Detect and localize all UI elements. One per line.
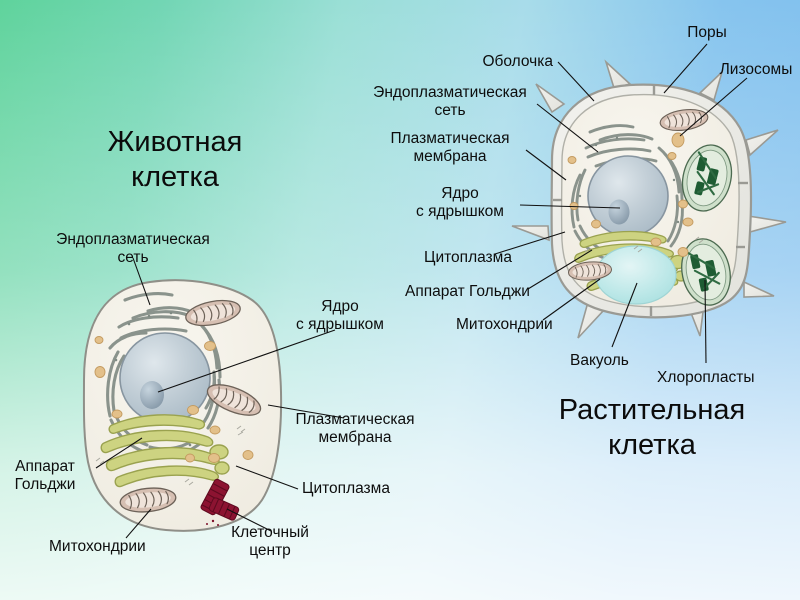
plant-label-er: Эндоплазматическая сеть — [345, 84, 555, 119]
plant-label-vacuole: Вакуоль — [570, 352, 629, 370]
animal-label-cytoplasm: Цитоплазма — [302, 480, 390, 498]
plant-label-chloroplasts: Хлоропласты — [657, 369, 754, 387]
animal-label-mitochondria: Митохондрии — [49, 538, 146, 556]
plant-label-cell-wall: Оболочка — [482, 53, 553, 71]
animal-nucleolus — [140, 381, 164, 409]
plant-nucleolus — [609, 200, 630, 225]
animal-cell-drawing — [84, 280, 281, 531]
animal-label-cell-center: Клеточный центр — [205, 524, 335, 559]
animal-cell-title: Животная клетка — [25, 125, 325, 195]
animal-label-nucleus: Ядро с ядрышком — [260, 298, 420, 333]
plant-label-nucleus: Ядро с ядрышком — [380, 185, 540, 220]
plant-label-plasma-membrane: Плазматическая мембрана — [360, 130, 540, 165]
plant-cell-title: Растительная клетка — [487, 393, 800, 463]
plant-label-pores: Поры — [662, 24, 752, 42]
plant-label-lysosomes: Лизосомы — [701, 61, 800, 79]
plant-label-golgi: Аппарат Гольджи — [405, 283, 530, 301]
animal-label-golgi: Аппарат Гольджи — [0, 458, 100, 493]
animal-label-er: Эндоплазматическая сеть — [33, 231, 233, 266]
animal-label-plasma-membrane: Плазматическая мембрана — [265, 411, 445, 446]
plant-label-mitochondria: Митохондрии — [456, 316, 553, 334]
plant-label-cytoplasm: Цитоплазма — [424, 249, 512, 267]
